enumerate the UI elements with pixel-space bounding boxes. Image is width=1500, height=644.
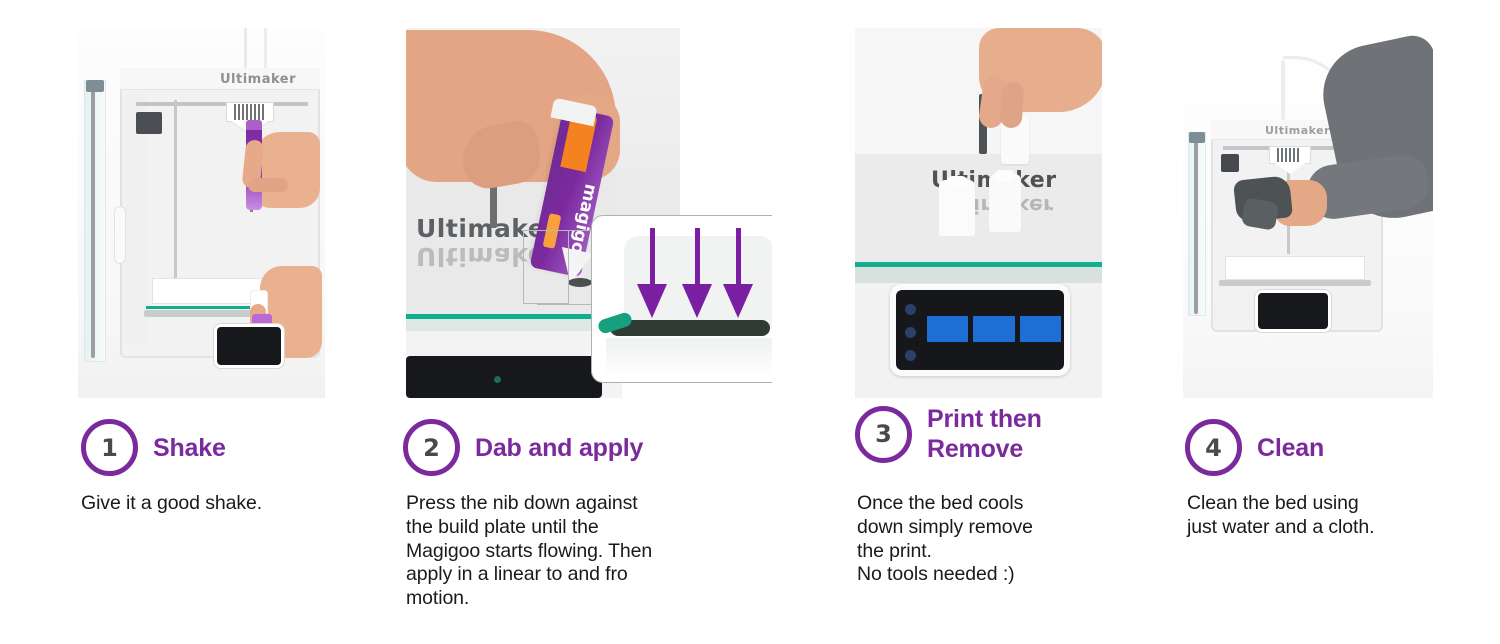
touchscreen-icon-1 (905, 304, 916, 315)
step-4-badge: 4 (1185, 419, 1242, 476)
step-1-title: Shake (153, 433, 226, 463)
step-4-photo: Ultimaker (1183, 28, 1433, 398)
nozzle-fins-icon (234, 104, 264, 120)
fingers-upper (248, 178, 288, 192)
callout-plate-reflection (606, 338, 772, 378)
menu-tile-3 (1020, 316, 1061, 342)
cleaning-cloth-fold (1241, 197, 1279, 230)
callout-applied-glue (610, 320, 770, 336)
step-3-badge: 3 (855, 406, 912, 463)
step-1-body: Give it a good shake. (81, 492, 371, 516)
build-plate (1225, 256, 1365, 280)
step-3-photo: Ultimaker Ultimaker (855, 28, 1102, 398)
step-4-header: 4 Clean (1185, 419, 1324, 476)
printer-vertical-rod (174, 100, 177, 288)
nozzle-fins-icon (1277, 148, 1299, 162)
printer-fan-box (1221, 154, 1239, 172)
build-plate-glass (855, 267, 1102, 283)
build-plate-glass (406, 319, 620, 331)
printer-gantry-rail (136, 102, 308, 106)
printer-touchscreen (406, 356, 602, 398)
printer-fan-box (136, 112, 162, 134)
printer-brand-label: Ultimaker (220, 72, 296, 87)
touchscreen-led-icon (494, 376, 501, 383)
step-1-photo: Ultimaker (78, 28, 325, 398)
printed-part-b (989, 174, 1021, 232)
printer-touchscreen (214, 324, 284, 368)
touchscreen-icon-2 (905, 327, 916, 338)
printed-part-a-top (947, 176, 967, 188)
step-2-body: Press the nib down against the build pla… (406, 492, 706, 611)
magigoo-bottle-cap (246, 120, 262, 130)
magnifier-link-top (537, 230, 593, 231)
printer-door-bar (1194, 136, 1198, 314)
touchscreen-side-icons (905, 304, 919, 362)
printer-door-clip (86, 80, 104, 92)
magnifier-source-box (523, 230, 569, 304)
printer-door-clip (1189, 132, 1205, 143)
finger-2 (999, 81, 1024, 128)
bowden-tube-vertical (1281, 60, 1285, 120)
step-3-body: Once the bed cools down simply remove th… (857, 492, 1147, 587)
menu-tile-2 (973, 316, 1014, 342)
step-1-badge: 1 (81, 419, 138, 476)
printer-door-panel (84, 80, 106, 362)
step-4-title: Clean (1257, 433, 1324, 463)
printer-shelf (406, 331, 606, 357)
step-2-title: Dab and apply (475, 433, 643, 463)
magnifier-link-bottom (537, 304, 593, 305)
hand-upper (254, 132, 320, 208)
step-2-badge: 2 (403, 419, 460, 476)
printer-touchscreen (1255, 290, 1331, 332)
print-head-cone (1273, 162, 1307, 174)
printer-door-handle (114, 206, 126, 264)
magigoo-instructions-page: Ultimaker Ul (0, 0, 1500, 644)
printer-door-bar (91, 86, 95, 358)
touchscreen-icon-3 (905, 350, 916, 361)
step-1-header: 1 Shake (81, 419, 226, 476)
magigoo-nib-tip (568, 278, 592, 287)
step-4-body: Clean the bed using just water and a clo… (1187, 492, 1477, 540)
menu-tile-1 (927, 316, 968, 342)
step-2-photo: Ultimake Ultimake magigoo (406, 28, 772, 398)
bowden-tube-left (244, 28, 247, 70)
build-plate-rail (1219, 280, 1371, 286)
step-3-header: 3 Print then Remove (855, 404, 1042, 464)
printed-part-b-top (995, 170, 1015, 182)
step-2-header: 2 Dab and apply (403, 419, 643, 476)
touchscreen-menu-tiles (927, 316, 1061, 342)
printed-part-a (939, 180, 975, 236)
step-3-title: Print then Remove (927, 404, 1042, 464)
printer-brand-label: Ultimaker (1265, 124, 1330, 137)
bowden-tube-right (264, 28, 267, 68)
